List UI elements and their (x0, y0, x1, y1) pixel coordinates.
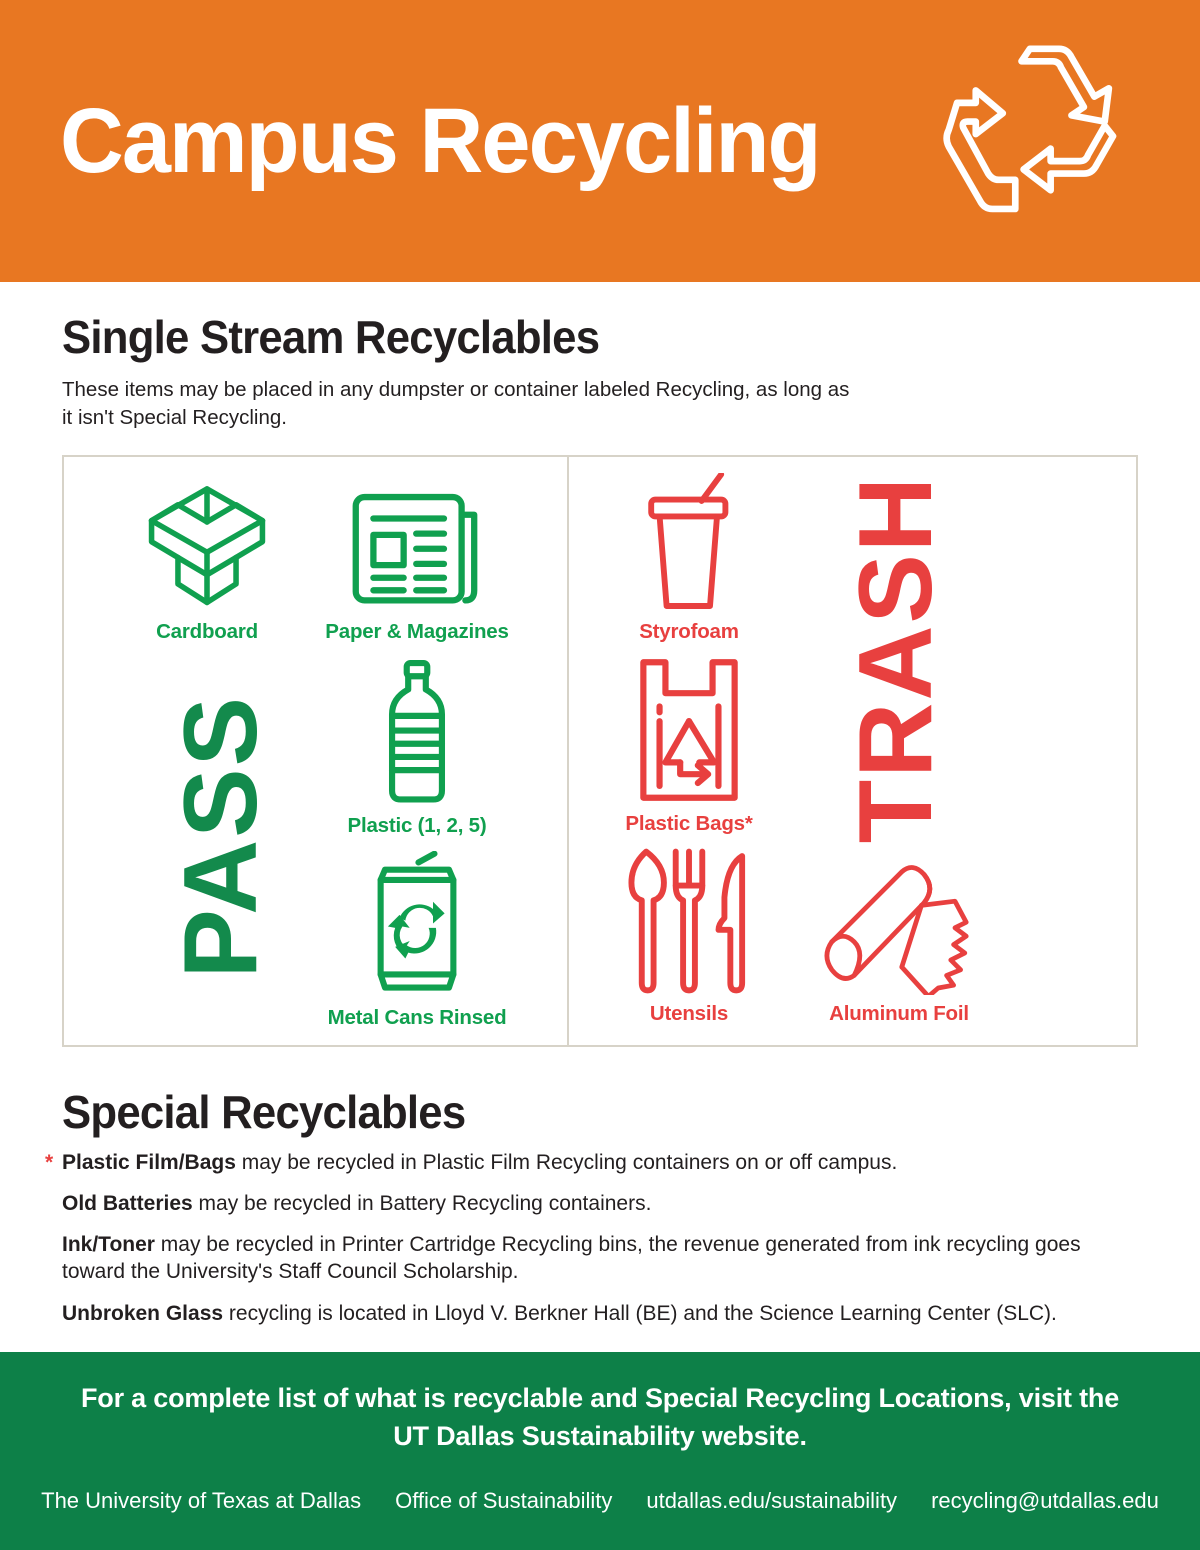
item-cardboard: Cardboard (112, 473, 302, 644)
list-item: *Plastic Film/Bags may be recycled in Pl… (62, 1149, 1138, 1176)
pass-verdict-label: PASS (172, 695, 271, 979)
utensils-icon (589, 845, 789, 995)
asterisk-marker: * (45, 1149, 53, 1176)
list-item-term: Old Batteries (62, 1192, 193, 1215)
plastic-bottle-icon (302, 655, 532, 807)
single-stream-description: These items may be placed in any dumpste… (62, 376, 862, 433)
item-label: Cardboard (112, 620, 302, 644)
footer-university-name: The University of Texas at Dallas (41, 1488, 361, 1514)
item-aluminum-foil: Aluminum Foil (779, 845, 1019, 1026)
item-plastic: Plastic (1, 2, 5) (302, 655, 532, 838)
page-title: Campus Recycling (60, 95, 820, 187)
page-header: Campus Recycling (0, 0, 1200, 282)
recycle-symbol-icon (930, 28, 1138, 236)
item-label: Plastic (1, 2, 5) (302, 814, 532, 838)
special-recyclables-list: *Plastic Film/Bags may be recycled in Pl… (62, 1149, 1138, 1327)
cardboard-box-icon (112, 473, 302, 613)
list-item-term: Ink/Toner (62, 1233, 155, 1256)
special-recyclables-section: Special Recyclables *Plastic Film/Bags m… (0, 1047, 1200, 1327)
item-label: Styrofoam (589, 620, 789, 644)
newspaper-icon (302, 473, 532, 613)
list-item-term: Plastic Film/Bags (62, 1151, 236, 1174)
metal-can-icon (302, 849, 532, 999)
list-item-text: may be recycled in Plastic Film Recyclin… (236, 1151, 897, 1174)
list-item-term: Unbroken Glass (62, 1302, 223, 1325)
single-stream-heading: Single Stream Recyclables (62, 282, 1084, 364)
item-label: Metal Cans Rinsed (302, 1006, 532, 1030)
item-styrofoam: Styrofoam (589, 473, 789, 644)
item-label: Paper & Magazines (302, 620, 532, 644)
list-item: Unbroken Glass recycling is located in L… (62, 1300, 1138, 1327)
page-footer: For a complete list of what is recyclabl… (0, 1352, 1200, 1550)
aluminum-foil-icon (779, 845, 1019, 995)
footer-email-link[interactable]: recycling@utdallas.edu (931, 1488, 1159, 1514)
footer-meta-row: The University of Texas at Dallas Office… (0, 1488, 1200, 1514)
special-recyclables-heading: Special Recyclables (62, 1069, 1084, 1139)
styrofoam-cup-icon (589, 473, 789, 613)
item-label: Utensils (589, 1002, 789, 1026)
list-item: Old Batteries may be recycled in Battery… (62, 1190, 1138, 1217)
pass-column: PASS Ca (64, 457, 569, 1045)
list-item-text: may be recycled in Printer Cartridge Rec… (62, 1233, 1081, 1283)
footer-office-name: Office of Sustainability (395, 1488, 612, 1514)
item-label: Aluminum Foil (779, 1002, 1019, 1026)
list-item-text: recycling is located in Lloyd V. Berkner… (223, 1302, 1057, 1325)
list-item-text: may be recycled in Battery Recycling con… (193, 1192, 652, 1215)
plastic-bag-icon (589, 653, 789, 805)
trash-verdict-label: TRASH (847, 475, 946, 843)
single-stream-section: Single Stream Recyclables These items ma… (0, 282, 1200, 1047)
item-utensils: Utensils (589, 845, 789, 1026)
list-item: Ink/Toner may be recycled in Printer Car… (62, 1231, 1138, 1286)
footer-website-link[interactable]: utdallas.edu/sustainability (646, 1488, 897, 1514)
trash-column: TRASH Styrofoam (569, 457, 1136, 1045)
item-label: Plastic Bags* (589, 812, 789, 836)
item-plastic-bags: Plastic Bags* (589, 653, 789, 836)
footer-call-to-action: For a complete list of what is recyclabl… (0, 1352, 1200, 1456)
recyclables-panel: PASS Ca (62, 455, 1138, 1047)
item-paper-magazines: Paper & Magazines (302, 473, 532, 644)
item-metal-cans: Metal Cans Rinsed (302, 849, 532, 1030)
